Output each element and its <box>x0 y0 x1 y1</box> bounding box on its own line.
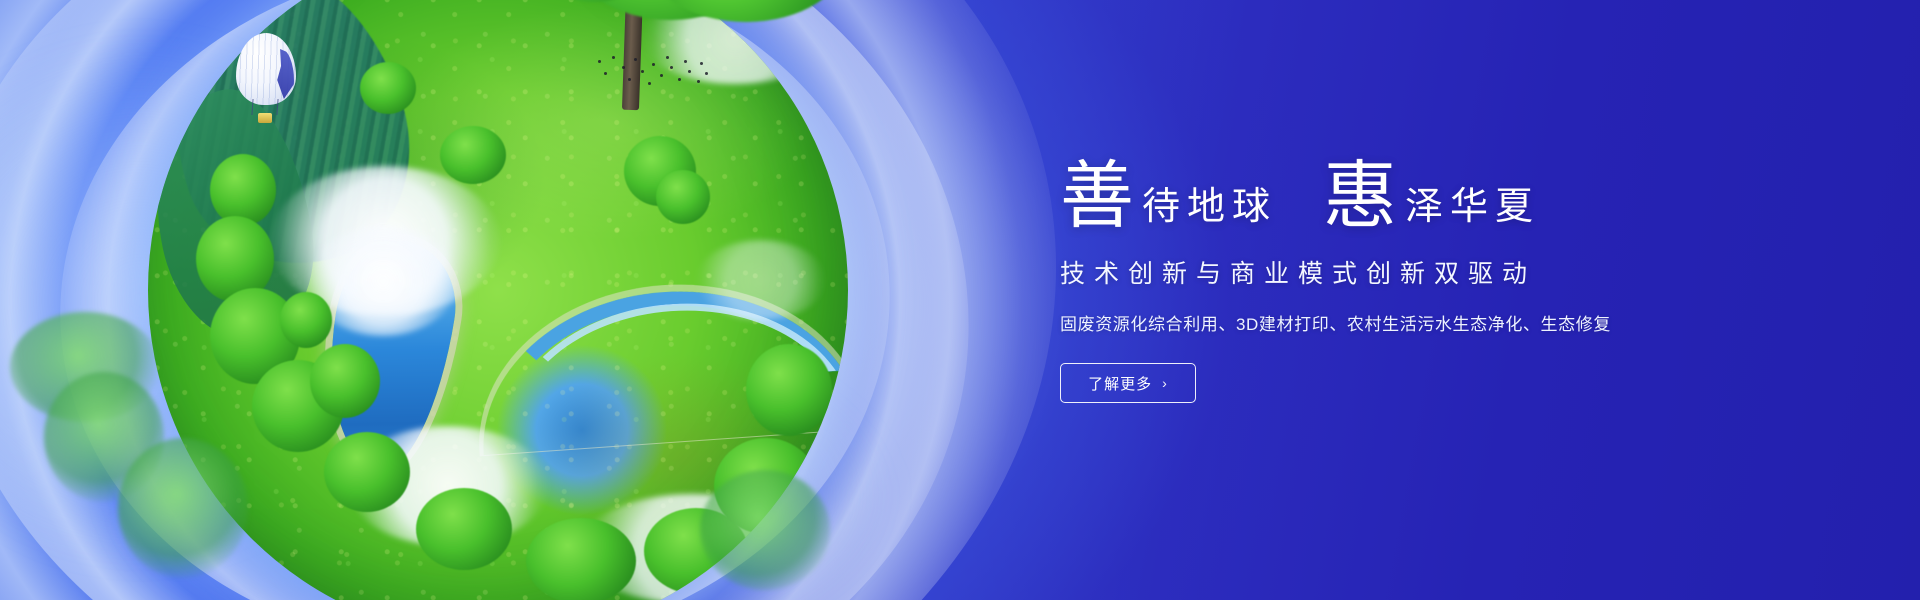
headline: 善 待地球 惠 泽华夏 <box>1060 136 1840 232</box>
bush <box>360 62 416 114</box>
bush <box>526 518 636 600</box>
bush <box>440 126 506 184</box>
description: 固废资源化综合利用、3D建材打印、农村生活污水生态净化、生态修复 <box>1060 310 1840 335</box>
hero-banner: 善 待地球 惠 泽华夏 技术创新与商业模式创新双驱动 固废资源化综合利用、3D建… <box>0 0 1920 600</box>
headline-rest-1: 待地球 <box>1142 188 1277 232</box>
bush <box>280 292 332 348</box>
headline-char-1: 善 <box>1060 162 1134 232</box>
bush <box>746 344 832 436</box>
bush <box>324 432 410 512</box>
chevron-right-icon: › <box>1162 376 1168 390</box>
bush <box>310 344 380 418</box>
hero-copy: 善 待地球 惠 泽华夏 技术创新与商业模式创新双驱动 固废资源化综合利用、3D建… <box>1060 136 1840 403</box>
bush <box>210 154 276 226</box>
hot-air-balloon-icon <box>236 33 296 129</box>
headline-char-2: 惠 <box>1323 162 1397 232</box>
subtitle: 技术创新与商业模式创新双驱动 <box>1060 254 1840 290</box>
learn-more-button[interactable]: 了解更多 › <box>1060 363 1196 403</box>
planet-cloud-6 <box>696 240 826 320</box>
learn-more-label: 了解更多 <box>1088 373 1152 394</box>
balloon-basket <box>258 113 272 123</box>
headline-rest-2: 泽华夏 <box>1405 188 1540 232</box>
background-tree <box>118 438 248 578</box>
bush <box>656 170 710 224</box>
bush <box>416 488 512 570</box>
background-tree <box>700 470 830 590</box>
